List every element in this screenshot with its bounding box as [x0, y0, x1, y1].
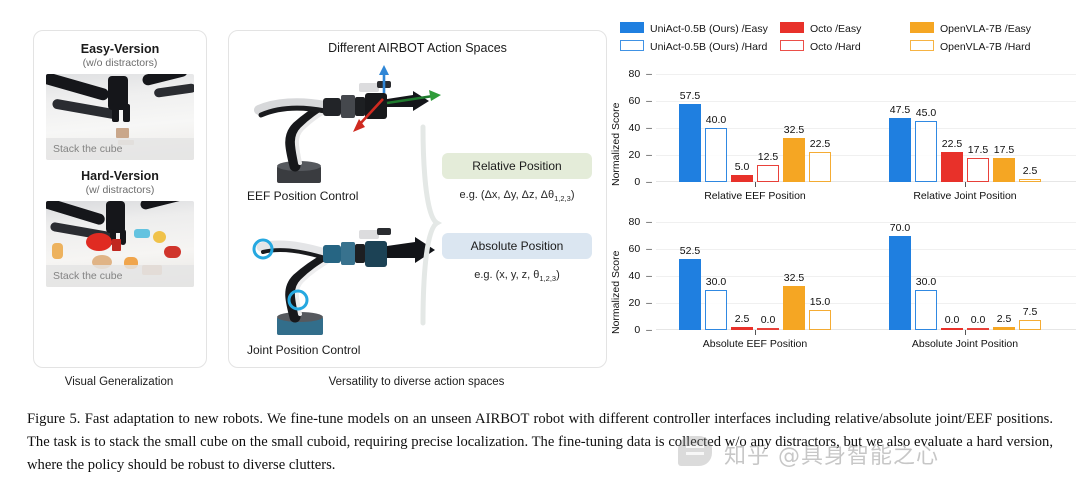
- legend-swatch: [620, 22, 644, 33]
- bar-value-label: 15.0: [802, 296, 838, 308]
- y-tick-label: 80 –: [629, 216, 652, 228]
- legend-item[interactable]: OpenVLA-7B /Easy: [910, 22, 1031, 35]
- bar[interactable]: [731, 175, 753, 182]
- legend-label: OpenVLA-7B /Hard: [940, 41, 1030, 53]
- y-tick-label: 20 –: [629, 297, 652, 309]
- relative-position-chip: Relative Position: [442, 153, 592, 179]
- bar[interactable]: [809, 310, 831, 330]
- bar[interactable]: [889, 118, 911, 182]
- easy-version-subtitle: (w/o distractors): [34, 57, 206, 69]
- gridline: [656, 101, 1076, 102]
- legend-swatch: [780, 22, 804, 33]
- absolute-position-chip: Absolute Position: [442, 233, 592, 259]
- y-tick-label: 0 –: [634, 176, 652, 188]
- absolute-position-example: e.g. (x, y, z, θ1,2,3): [437, 269, 597, 283]
- bar-value-label: 40.0: [698, 114, 734, 126]
- y-tick-label: 40 –: [629, 122, 652, 134]
- y-tick-label: 0 –: [634, 324, 652, 336]
- bar-value-label: 0.0: [750, 314, 786, 326]
- plot-area: 0 –20 –40 –60 –80 –52.530.02.50.032.515.…: [656, 222, 1076, 330]
- visual-generalization-panel: Easy-Version (w/o distractors) Stack the…: [33, 30, 207, 368]
- y-tick-label: 20 –: [629, 149, 652, 161]
- gridline: [656, 74, 1076, 75]
- action-spaces-title: Different AIRBOT Action Spaces: [229, 41, 606, 55]
- hard-version-subtitle: (w/ distractors): [34, 184, 206, 196]
- y-axis-label: Normalized Score: [610, 103, 622, 186]
- bar-value-label: 52.5: [672, 245, 708, 257]
- bar[interactable]: [679, 259, 701, 330]
- bar[interactable]: [783, 286, 805, 330]
- bar-value-label: 22.5: [802, 138, 838, 150]
- y-tick-label: 60 –: [629, 95, 652, 107]
- legend-label: UniAct-0.5B (Ours) /Easy: [650, 23, 768, 35]
- bar[interactable]: [967, 328, 989, 330]
- joint-position-control-label: Joint Position Control: [247, 343, 467, 357]
- chart-legend: UniAct-0.5B (Ours) /EasyOcto /EasyOpenVL…: [620, 22, 1080, 66]
- figure-area: Easy-Version (w/o distractors) Stack the…: [0, 0, 1080, 400]
- bar[interactable]: [757, 165, 779, 182]
- bar[interactable]: [809, 152, 831, 182]
- legend-item[interactable]: UniAct-0.5B (Ours) /Hard: [620, 40, 767, 53]
- legend-swatch: [910, 22, 934, 33]
- y-tick-label: 80 –: [629, 68, 652, 80]
- easy-version-overlay-label: Stack the cube: [46, 138, 194, 160]
- eef-position-control-label: EEF Position Control: [247, 189, 437, 203]
- bar[interactable]: [731, 327, 753, 330]
- hard-version-photo: Stack the cube: [46, 201, 194, 287]
- legend-swatch: [910, 40, 934, 51]
- x-tick: [965, 182, 966, 187]
- legend-item[interactable]: UniAct-0.5B (Ours) /Easy: [620, 22, 768, 35]
- bar[interactable]: [915, 121, 937, 182]
- hard-version-overlay-label: Stack the cube: [46, 265, 194, 287]
- bar[interactable]: [967, 158, 989, 182]
- bar-value-label: 57.5: [672, 90, 708, 102]
- x-axis-category-label: Absolute EEF Position: [685, 338, 825, 350]
- bar[interactable]: [705, 128, 727, 182]
- absolute-position-chart: Normalized Score0 –20 –40 –60 –80 –52.53…: [612, 218, 1080, 366]
- mid-panel-caption: Versatility to diverse action spaces: [228, 376, 605, 388]
- x-axis-category-label: Relative EEF Position: [685, 190, 825, 202]
- hard-version-title: Hard-Version: [34, 169, 206, 183]
- action-spaces-panel: Different AIRBOT Action Spaces EEF Posit…: [228, 30, 607, 368]
- y-tick-label: 40 –: [629, 270, 652, 282]
- x-axis-category-label: Relative Joint Position: [895, 190, 1035, 202]
- left-panel-caption: Visual Generalization: [33, 376, 205, 388]
- legend-label: UniAct-0.5B (Ours) /Hard: [650, 41, 767, 53]
- legend-item[interactable]: Octo /Hard: [780, 40, 861, 53]
- x-tick: [755, 330, 756, 335]
- y-tick-label: 60 –: [629, 243, 652, 255]
- bar[interactable]: [941, 328, 963, 330]
- x-tick: [965, 330, 966, 335]
- bar-value-label: 2.5: [1012, 165, 1048, 177]
- relative-position-example: e.g. (Δx, Δy, Δz, Δθ1,2,3): [437, 189, 597, 203]
- legend-item[interactable]: Octo /Easy: [780, 22, 861, 35]
- legend-label: Octo /Hard: [810, 41, 861, 53]
- gridline: [656, 222, 1076, 223]
- x-tick: [755, 182, 756, 187]
- bar[interactable]: [757, 328, 779, 330]
- bar-value-label: 12.5: [750, 151, 786, 163]
- figure-caption: Figure 5. Fast adaptation to new robots.…: [27, 408, 1053, 477]
- legend-swatch: [620, 40, 644, 51]
- results-charts: UniAct-0.5B (Ours) /EasyOcto /EasyOpenVL…: [612, 22, 1080, 382]
- bar[interactable]: [1019, 320, 1041, 330]
- bar-value-label: 30.0: [698, 276, 734, 288]
- easy-version-title: Easy-Version: [34, 42, 206, 56]
- plot-area: 0 –20 –40 –60 –80 –57.540.05.012.532.522…: [656, 74, 1076, 182]
- bar[interactable]: [993, 327, 1015, 330]
- bar-value-label: 32.5: [776, 124, 812, 136]
- bar-value-label: 70.0: [882, 222, 918, 234]
- x-axis-category-label: Absolute Joint Position: [895, 338, 1035, 350]
- legend-label: OpenVLA-7B /Easy: [940, 23, 1031, 35]
- y-axis-label: Normalized Score: [610, 251, 622, 334]
- gridline: [656, 249, 1076, 250]
- legend-swatch: [780, 40, 804, 51]
- bar-value-label: 45.0: [908, 107, 944, 119]
- bar[interactable]: [1019, 179, 1041, 182]
- easy-version-photo: Stack the cube: [46, 74, 194, 160]
- legend-item[interactable]: OpenVLA-7B /Hard: [910, 40, 1030, 53]
- bar-value-label: 7.5: [1012, 306, 1048, 318]
- bar-value-label: 17.5: [986, 144, 1022, 156]
- bar-value-label: 30.0: [908, 276, 944, 288]
- legend-label: Octo /Easy: [810, 23, 861, 35]
- relative-position-chart: Normalized Score0 –20 –40 –60 –80 –57.54…: [612, 70, 1080, 218]
- bar-value-label: 32.5: [776, 272, 812, 284]
